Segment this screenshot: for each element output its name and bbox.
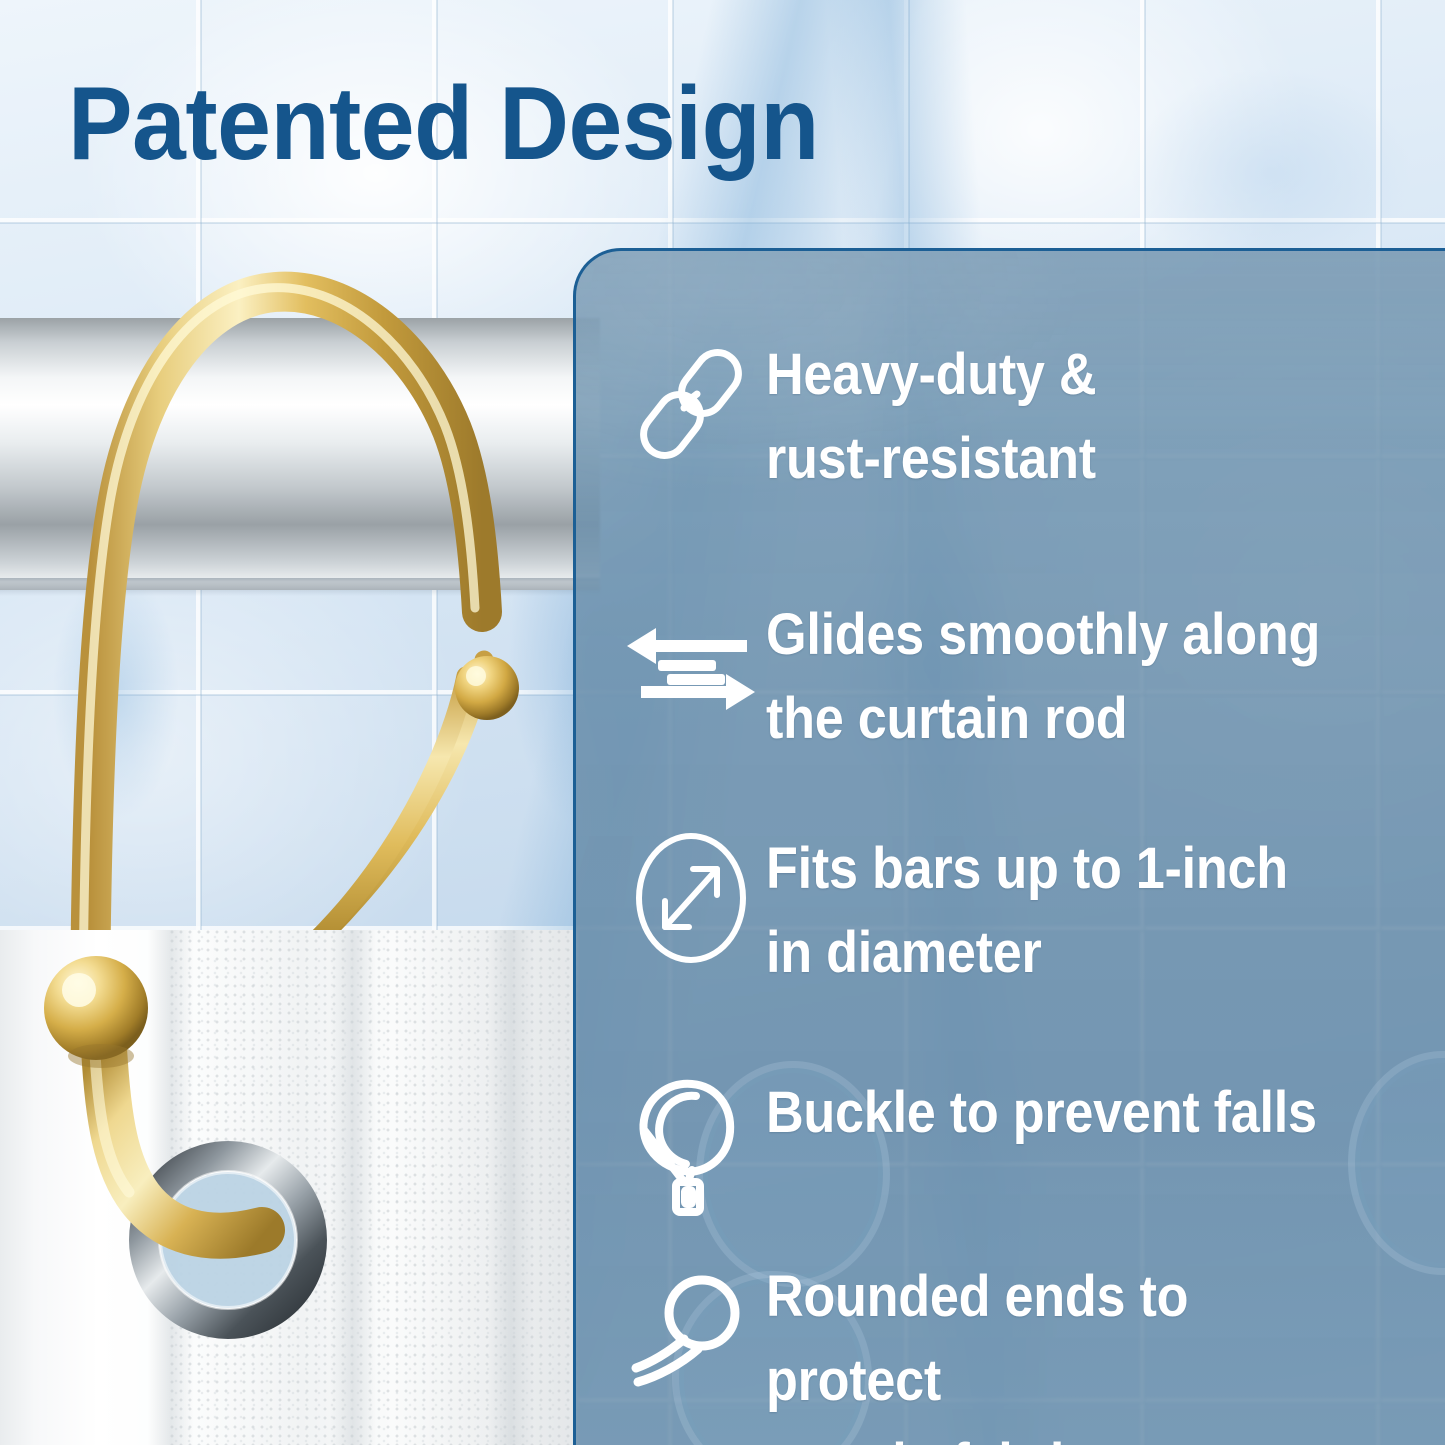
carabiner-buckle-icon-svg [632,1078,750,1218]
feature-label: Rounded ends to protect curtain fabric [766,1251,1351,1445]
diameter-circle-icon [616,823,766,973]
feature-label: Buckle to prevent falls [766,1067,1317,1155]
feature-label: Fits bars up to 1-inch in diameter [766,823,1288,995]
diameter-circle-icon-svg [629,831,753,965]
hook-ball-collar [68,1044,134,1068]
feature-row-fits-bars: Fits bars up to 1-inch in diameter [616,823,1416,995]
hook-pivot-ball [455,656,519,720]
feature-row-rounded-ends: Rounded ends to protect curtain fabric [616,1251,1416,1445]
hook-pivot-ball-highlight [466,666,486,686]
feature-row-heavy-duty: Heavy-duty & rust-resistant [616,329,1416,501]
shower-curtain [0,930,578,1445]
feature-row-glides-smoothly: Glides smoothly along the curtain rod [616,589,1416,761]
bidirectional-arrows-icon-svg [623,618,759,722]
hook-ball-end-highlight [62,973,96,1007]
page-title: Patented Design [68,72,819,176]
rounded-hook-end-icon [616,1251,766,1407]
rounded-hook-end-icon-svg [628,1269,754,1395]
feature-label: Heavy-duty & rust-resistant [766,329,1096,501]
chain-link-icon [616,329,766,479]
hook-through-grommet-svg [0,930,578,1445]
carabiner-buckle-icon [616,1067,766,1223]
bidirectional-arrows-icon [616,589,766,745]
hook-upper-curve [90,292,482,1000]
chain-link-icon-svg [627,340,755,468]
feature-label: Glides smoothly along the curtain rod [766,589,1320,761]
features-panel: Heavy-duty & rust-resistant Glide [573,248,1445,1445]
infographic-canvas: Heavy-duty & rust-resistant Glide [0,0,1445,1445]
feature-row-buckle: Buckle to prevent falls [616,1067,1416,1223]
